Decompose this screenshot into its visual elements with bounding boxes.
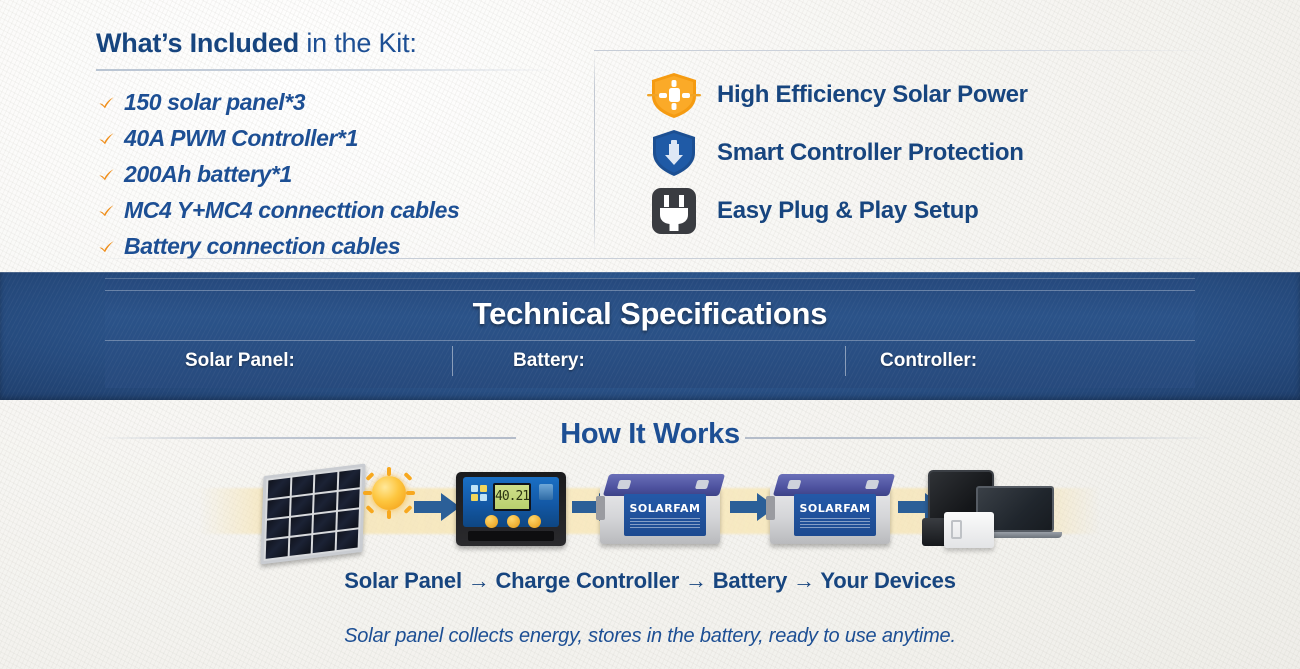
sun-icon	[372, 476, 406, 510]
shield-protection-icon	[645, 127, 703, 179]
how-it-works-title: How It Works	[0, 418, 1300, 451]
banner-rule-top	[105, 290, 1195, 291]
spec-divider-1	[452, 346, 453, 376]
charge-controller-icon: 40.21	[456, 472, 566, 546]
battery-handle	[596, 496, 605, 520]
heading-underline	[96, 69, 556, 71]
battery-terminal	[787, 480, 802, 489]
list-item-label: Battery connection cables	[124, 233, 400, 260]
stage-solar-panel	[262, 458, 422, 563]
check-icon	[98, 167, 115, 184]
spec-column-battery: Battery:	[513, 350, 585, 372]
list-item-label: 40A PWM Controller*1	[124, 125, 358, 152]
kit-and-features-section: What’s Included in the Kit: 150 solar pa…	[0, 0, 1300, 272]
list-item-label: 150 solar panel*3	[124, 89, 305, 116]
flow-diagram: 40.21 SOLARFAM	[0, 458, 1300, 563]
battery-terminal	[695, 480, 710, 489]
controller-terminal	[539, 484, 553, 500]
feature-list: High Efficiency Solar Power Smart Contro…	[645, 66, 1028, 240]
battery-label: SOLARFAM	[624, 494, 706, 536]
controller-ports	[468, 531, 554, 541]
feature-label: Smart Controller Protection	[717, 139, 1024, 167]
battery-label: SOLARFAM	[794, 494, 876, 536]
stage-battery-2: SOLARFAM	[766, 458, 898, 563]
battery-handle	[766, 496, 775, 520]
column-divider	[594, 52, 595, 252]
battery-label-lines	[624, 518, 706, 528]
controller-keypad	[471, 485, 487, 501]
battery-brand: SOLARFAM	[794, 502, 876, 515]
battery-label-lines	[794, 518, 876, 528]
battery-terminal	[617, 480, 632, 489]
feature-label: High Efficiency Solar Power	[717, 81, 1028, 109]
list-item: 40A PWM Controller*1	[98, 120, 568, 156]
whats-included-column: What’s Included in the Kit: 150 solar pa…	[96, 26, 566, 60]
battery-top-cap	[773, 474, 895, 496]
check-icon	[98, 239, 115, 256]
stage-charge-controller: 40.21	[456, 458, 570, 563]
spec-divider-2	[845, 346, 846, 376]
whats-included-heading: What’s Included in the Kit:	[96, 26, 566, 60]
feature-row-protection: Smart Controller Protection	[645, 124, 1028, 182]
shield-solar-icon	[645, 69, 703, 121]
list-item: MC4 Y+MC4 connecttion cables	[98, 192, 568, 228]
check-icon	[98, 131, 115, 148]
controller-buttons	[485, 515, 541, 528]
feature-row-solar: High Efficiency Solar Power	[645, 66, 1028, 124]
heading-strong: What’s Included	[96, 28, 299, 58]
check-icon	[98, 95, 115, 112]
battery-icon: SOLARFAM	[596, 466, 724, 550]
tagline: Solar panel collects energy, stores in t…	[0, 625, 1300, 648]
battery-top-cap	[603, 474, 725, 496]
flow-arrow	[414, 492, 460, 522]
heading-rest: in the Kit:	[299, 28, 417, 58]
stage-battery-1: SOLARFAM	[596, 458, 728, 563]
spec-column-controller: Controller:	[880, 350, 977, 372]
battery-terminal	[865, 480, 880, 489]
banner-rule-mid	[105, 340, 1195, 341]
how-it-works-section: How It Works	[0, 400, 1300, 669]
technical-specifications-banner: Technical Specifications Solar Panel: Ba…	[0, 272, 1300, 400]
devices-icon	[920, 464, 1060, 554]
solar-panel-icon	[260, 463, 365, 564]
stage-devices	[920, 458, 1070, 563]
list-item-label: MC4 Y+MC4 connecttion cables	[124, 197, 459, 224]
feature-row-plug: Easy Plug & Play Setup	[645, 182, 1028, 240]
controller-face: 40.21	[463, 477, 559, 527]
battery-brand: SOLARFAM	[624, 502, 706, 515]
flow-caption: Solar Panel → Charge Controller → Batter…	[0, 568, 1300, 594]
power-plug-icon	[645, 185, 703, 237]
kit-item-list: 150 solar panel*3 40A PWM Controller*1 2…	[98, 84, 568, 264]
list-item: 150 solar panel*3	[98, 84, 568, 120]
section-bottom-divider	[96, 258, 1214, 259]
list-item-label: 200Ah battery*1	[124, 161, 292, 188]
specs-columns: Solar Panel: Battery: Controller:	[105, 350, 1195, 388]
top-divider	[594, 50, 1214, 51]
controller-display: 40.21	[493, 483, 531, 511]
feature-label: Easy Plug & Play Setup	[717, 197, 979, 225]
check-icon	[98, 203, 115, 220]
banner-inner-panel: Technical Specifications Solar Panel: Ba…	[105, 278, 1195, 388]
specs-title: Technical Specifications	[105, 296, 1195, 332]
battery-icon: SOLARFAM	[766, 466, 894, 550]
white-appliance-device	[944, 512, 994, 548]
spec-column-solar-panel: Solar Panel:	[185, 350, 295, 372]
list-item: 200Ah battery*1	[98, 156, 568, 192]
